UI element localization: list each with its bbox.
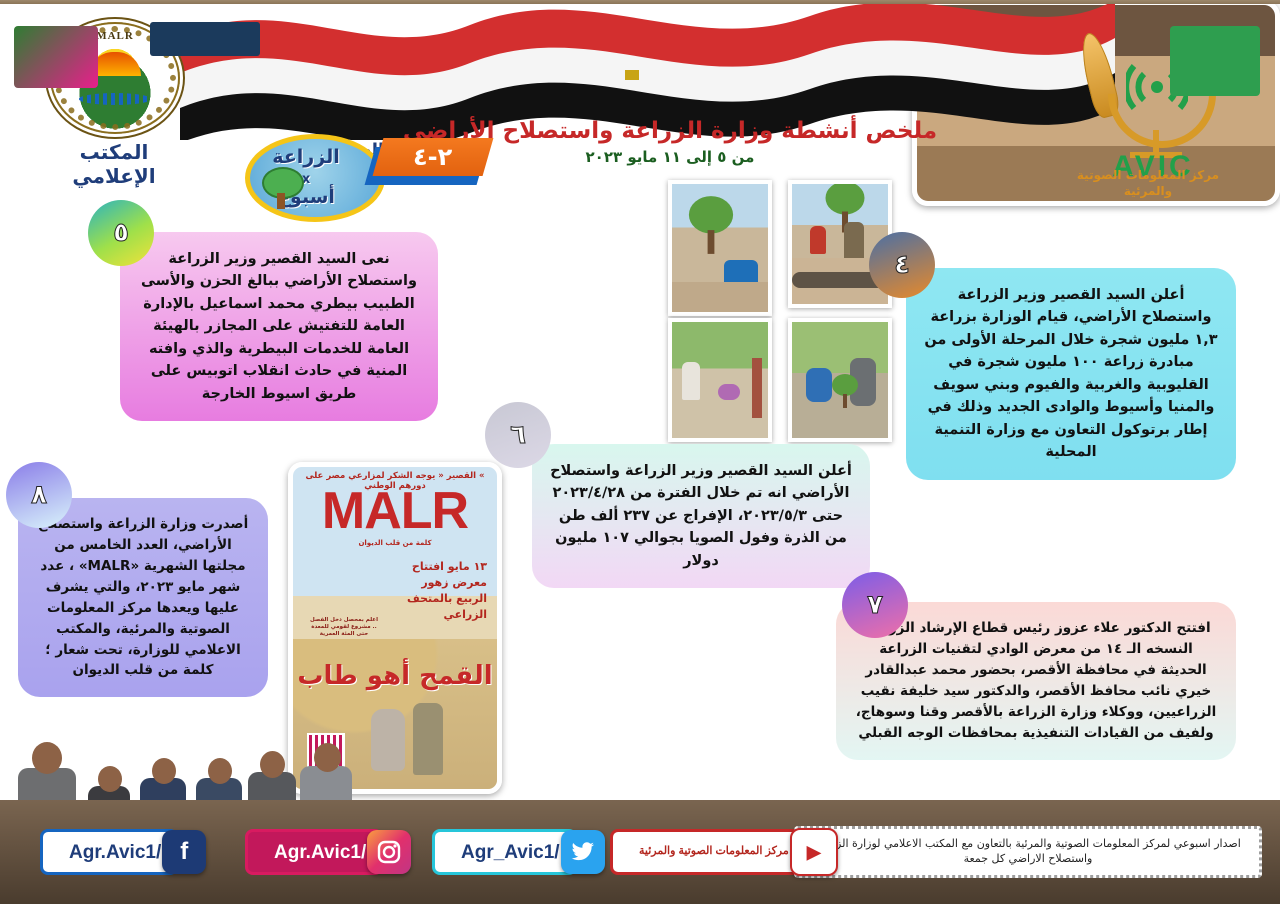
news-number-badge-4: ٤: [869, 232, 935, 298]
infographic-page: MALR المكتب الإعلامي AVIC مركز المعلومات…: [0, 0, 1280, 904]
news-text-7: افتتح الدكتور علاء عزوز رئيس قطاع الإرشا…: [854, 618, 1218, 744]
page-tab-label: ٢-٤: [413, 145, 452, 169]
news-text-8: أصدرت وزارة الزراعة واستصلاح الأراضي، ال…: [36, 514, 250, 681]
tree-planting-photo-1: [668, 180, 772, 316]
page-range-tab: ٢-٤: [378, 138, 490, 182]
avic-subtitle: مركز المعلومات الصوتية والمرئية: [1058, 168, 1238, 199]
facebook-handle[interactable]: /Agr.Avic1: [40, 829, 178, 875]
social-link-twitter[interactable]: /Agr_Avic1: [432, 830, 605, 874]
magazine-small-note: اعلم بمحصل دخل الفصل .. مشروع لقومي للمع…: [307, 617, 381, 638]
agriculture-week-badge: الزراعة x أسبوع: [245, 134, 385, 222]
magazine-logo: MALR: [293, 485, 497, 537]
instagram-icon: [367, 830, 411, 874]
news-card-4: أعلن السيد القصير وزير الزراعة واستصلاح …: [906, 268, 1236, 480]
week-badge-line1: الزراعة: [272, 146, 339, 168]
magazine-headline: القمح أهو طاب: [293, 663, 497, 689]
magazine-slogan: كلمة من قلب الديوان: [293, 539, 497, 547]
social-link-instagram[interactable]: /Agr.Avic1: [245, 830, 411, 874]
instagram-handle[interactable]: /Agr.Avic1: [245, 829, 383, 875]
news-text-4: أعلن السيد القصير وزير الزراعة واستصلاح …: [924, 284, 1218, 464]
youtube-icon: ▶: [790, 828, 838, 876]
news-card-6: أعلن السيد القصير وزير الزراعة واستصلاح …: [532, 444, 870, 588]
tree-planting-photo-4: [788, 318, 892, 442]
media-office-label: المكتب الإعلامي: [44, 140, 184, 188]
news-number-badge-8: ٨: [6, 462, 72, 528]
tree-planting-photo-3: [668, 318, 772, 442]
magazine-side-note: ١٣ مايو افتتاح معرض زهور الربيع بالمتحف …: [403, 559, 487, 623]
news-text-5: نعى السيد القصير وزير الزراعة واستصلاح ا…: [138, 248, 420, 405]
social-link-facebook[interactable]: f /Agr.Avic1: [40, 830, 206, 874]
youtube-handle[interactable]: مركز المعلومات الصوتية والمرئية: [610, 829, 806, 875]
news-text-6: أعلن السيد القصير وزير الزراعة واستصلاح …: [550, 460, 852, 572]
news-card-8: أصدرت وزارة الزراعة واستصلاح الأراضي، ال…: [18, 498, 268, 697]
date-range: من ٥ إلى ١١ مايو ٢٠٢٣: [490, 148, 850, 166]
twitter-handle[interactable]: /Agr_Avic1: [432, 829, 577, 875]
tree-icon: [262, 167, 300, 209]
news-card-5: نعى السيد القصير وزير الزراعة واستصلاح ا…: [120, 232, 438, 421]
footer-bar: f /Agr.Avic1 /Agr.Avic1 /Agr_Avic1 ▶ مرك…: [0, 800, 1280, 904]
facebook-icon: f: [162, 830, 206, 874]
footer-divider: [0, 0, 1280, 4]
news-number-badge-7: ٧: [842, 572, 908, 638]
news-number-badge-5: ٥: [88, 200, 154, 266]
footer-disclaimer: اصدار اسبوعي لمركز المعلومات الصوتية وال…: [794, 826, 1262, 878]
twitter-icon: [561, 830, 605, 874]
news-number-badge-6: ٦: [485, 402, 551, 468]
social-link-youtube[interactable]: ▶ مركز المعلومات الصوتية والمرئية: [610, 830, 838, 874]
